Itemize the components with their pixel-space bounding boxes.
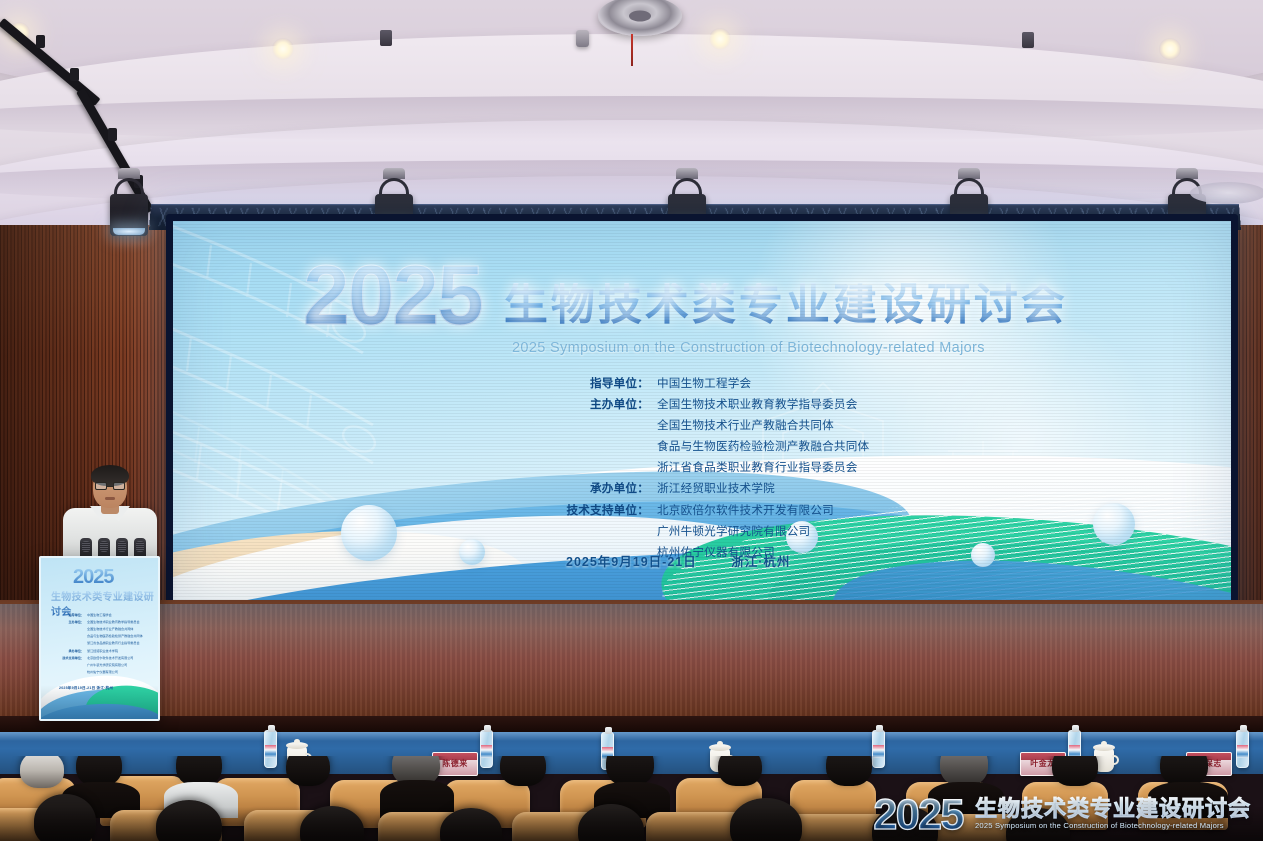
- decorative-sphere: [971, 543, 995, 567]
- screen-location: 浙江·杭州: [731, 555, 790, 569]
- tea-cup-lid: [286, 742, 308, 749]
- organization-value: 中国生物工程学会: [87, 612, 112, 619]
- organization-label: 承办单位：: [58, 648, 84, 655]
- screen-date: 2025年9月19日-21日: [566, 555, 697, 569]
- organization-label: 指导单位：: [553, 373, 649, 394]
- organization-label: 主办单位：: [553, 394, 649, 478]
- organization-value: 食品与生物医药检验检测产教融合共同体: [657, 436, 869, 457]
- lens-left: [95, 482, 107, 490]
- decorative-sphere: [459, 539, 485, 565]
- organization-value: 浙江省食品类职业教育行业指导委员会: [657, 457, 869, 478]
- organization-values: 北京欧倍尔软件技术开发有限公司广州牛顿光学研究院有限公司杭州佑宁仪器有限公司: [84, 655, 133, 676]
- audience-head: [20, 756, 64, 788]
- led-screen-content: 2025 生物技术类专业建设研讨会 2025 Symposium on the …: [173, 221, 1231, 605]
- organization-value: 浙江经贸职业技术学院: [87, 648, 118, 655]
- downlight: [1159, 38, 1181, 60]
- organization-values: 全国生物技术职业教育教学指导委员会全国生物技术行业产教融合共同体食品与生物医药检…: [84, 619, 143, 647]
- branding-watermark: 2025 生物技术类专业建设研讨会 2025 Symposium on the …: [867, 795, 1257, 835]
- screen-year: 2025: [303, 259, 482, 331]
- watermark-text-block: 生物技术类专业建设研讨会 2025 Symposium on the Const…: [975, 797, 1251, 833]
- ceiling-speaker-icon: [380, 30, 392, 46]
- screen-title-block: 2025 生物技术类专业建设研讨会: [303, 259, 1068, 331]
- organization-row: 指导单位：中国生物工程学会: [553, 373, 869, 394]
- organization-value: 全国生物技术行业产教融合共同体: [657, 415, 869, 436]
- organization-row: 指导单位：中国生物工程学会: [58, 612, 150, 619]
- organization-values: 中国生物工程学会: [657, 373, 751, 394]
- watermark-year: 2025: [873, 798, 963, 833]
- tea-cup-lid: [1093, 744, 1115, 751]
- organization-value: 浙江经贸职业技术学院: [657, 478, 775, 499]
- track-spotlight: [70, 68, 79, 81]
- smoke-sensor-icon: [576, 30, 589, 47]
- eyeglasses-icon: [95, 482, 125, 490]
- podium-year: 2025: [73, 566, 114, 589]
- podium-lectern-sign: 2025 生物技术类专业建设研讨会 指导单位：中国生物工程学会主办单位：全国生物…: [39, 556, 160, 721]
- screen-subtitle-en: 2025 Symposium on the Construction of Bi…: [512, 340, 985, 356]
- audience-head-foreground: [34, 794, 96, 841]
- track-spotlight: [36, 35, 45, 48]
- watermark-title-cn: 生物技术类专业建设研讨会: [975, 797, 1251, 820]
- organization-values: 浙江经贸职业技术学院: [657, 478, 775, 499]
- ceiling: [0, 0, 1263, 232]
- audience-head: [718, 756, 762, 786]
- podium-organization-list: 指导单位：中国生物工程学会主办单位：全国生物技术职业教育教学指导委员会全国生物技…: [58, 612, 150, 676]
- track-spotlight: [108, 128, 117, 141]
- stage-light-glow: [0, 604, 1263, 724]
- organization-label: 承办单位：: [553, 478, 649, 499]
- lens-right: [113, 482, 125, 490]
- audience-head: [826, 756, 872, 786]
- organization-value: 杭州佑宁仪器有限公司: [87, 669, 133, 676]
- organization-label: 技术支持单位：: [58, 655, 84, 676]
- organization-label: 指导单位：: [58, 612, 84, 619]
- ceiling-seam-2: [0, 160, 1263, 206]
- organization-value: 食品与生物医药检验检测产教融合共同体: [87, 633, 143, 640]
- organization-value: 全国生物技术职业教育教学指导委员会: [87, 619, 143, 626]
- organization-values: 中国生物工程学会: [84, 612, 112, 619]
- organization-row: 主办单位：全国生物技术职业教育教学指导委员会全国生物技术行业产教融合共同体食品与…: [58, 619, 150, 647]
- organization-value: 浙江省食品类职业教育行业指导委员会: [87, 640, 143, 647]
- screen-organization-list: 指导单位：中国生物工程学会主办单位：全国生物技术职业教育教学指导委员会全国生物技…: [553, 373, 869, 563]
- tea-cup-lid: [709, 744, 731, 751]
- organization-value: 北京欧倍尔软件技术开发有限公司: [87, 655, 133, 662]
- ceiling-speaker-icon: [1022, 32, 1034, 48]
- speaker-mouth: [105, 497, 115, 500]
- organization-values: 全国生物技术职业教育教学指导委员会全国生物技术行业产教融合共同体食品与生物医药检…: [657, 394, 869, 478]
- decorative-sphere: [1093, 503, 1135, 545]
- organization-value: 全国生物技术行业产教融合共同体: [87, 626, 143, 633]
- organization-value: 北京欧倍尔软件技术开发有限公司: [657, 500, 834, 521]
- organization-row: 技术支持单位：北京欧倍尔软件技术开发有限公司广州牛顿光学研究院有限公司杭州佑宁仪…: [58, 655, 150, 676]
- decorative-sphere: [341, 505, 397, 561]
- audience-head: [1052, 756, 1098, 786]
- led-screen-bezel: 2025 生物技术类专业建设研讨会 2025 Symposium on the …: [166, 214, 1238, 612]
- organization-value: 广州牛顿光学研究院有限公司: [87, 662, 133, 669]
- downlight: [709, 28, 731, 50]
- watermark-subtitle-en: 2025 Symposium on the Construction of Bi…: [975, 821, 1251, 830]
- organization-row: 承办单位：浙江经贸职业技术学院: [553, 478, 869, 499]
- sprinkler-cord: [631, 34, 633, 66]
- organization-value: 全国生物技术职业教育教学指导委员会: [657, 394, 869, 415]
- downlight: [272, 38, 294, 60]
- organization-row: 承办单位：浙江经贸职业技术学院: [58, 648, 150, 655]
- organization-label: 主办单位：: [58, 619, 84, 647]
- audience-head: [286, 756, 330, 786]
- conference-hall-photo: 2025 生物技术类专业建设研讨会 2025 Symposium on the …: [0, 0, 1263, 841]
- screen-footer: 2025年9月19日-21日 浙江·杭州: [566, 551, 790, 570]
- podium-shadow: [41, 685, 158, 719]
- audience-head: [500, 756, 546, 786]
- spotlight-lens: [113, 228, 145, 235]
- ceiling-seam-1: [0, 96, 1263, 142]
- organization-values: 浙江经贸职业技术学院: [84, 648, 118, 655]
- organization-value: 中国生物工程学会: [657, 373, 751, 394]
- ceiling-disc-light: [1190, 182, 1263, 204]
- screen-title-cn: 生物技术类专业建设研讨会: [504, 283, 1068, 331]
- organization-value: 广州牛顿光学研究院有限公司: [657, 521, 834, 542]
- organization-row: 主办单位：全国生物技术职业教育教学指导委员会全国生物技术行业产教融合共同体食品与…: [553, 394, 869, 478]
